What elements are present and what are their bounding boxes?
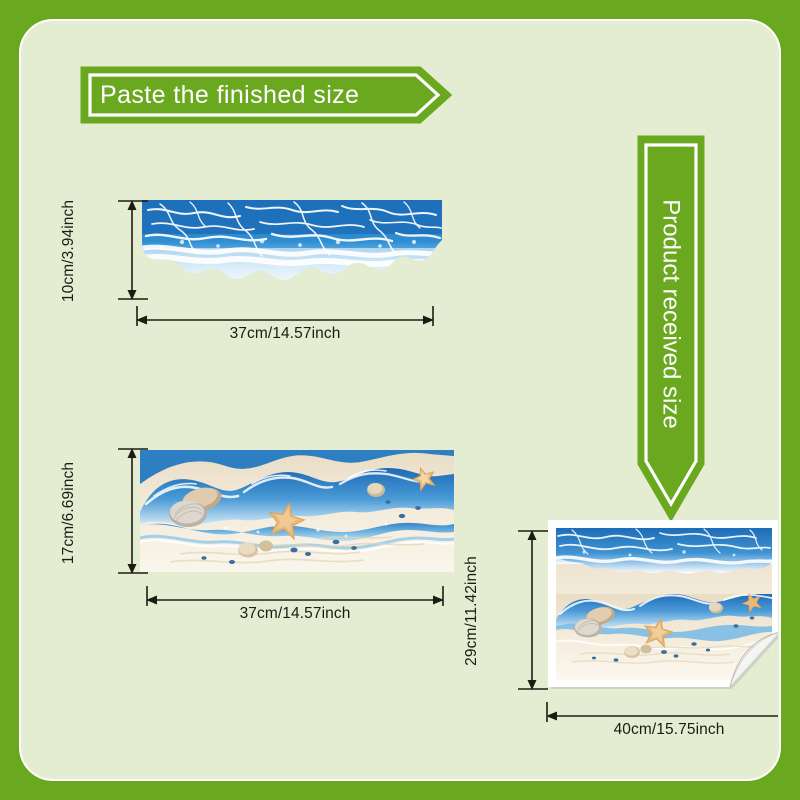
wave-strip-decal: [142, 200, 442, 292]
dimension-label-width-1: 37cm/14.57inch: [134, 325, 436, 343]
dimension-label-width-2: 37cm/14.57inch: [144, 605, 446, 623]
banner-paste-label: Paste the finished size: [100, 66, 400, 124]
banner-product-received-size: Product received size: [636, 134, 706, 522]
content-panel: Paste the finished size Product received…: [22, 22, 778, 778]
dimension-label-height-2: 17cm/6.69inch: [58, 440, 80, 582]
dimension-line-height-3: [510, 528, 550, 692]
dimension-line-height-2: [110, 446, 150, 576]
poster-root: Paste the finished size Product received…: [0, 0, 800, 800]
beach-scene-decal: [140, 450, 454, 572]
dimension-label-width-3: 40cm/15.75inch: [544, 721, 778, 739]
banner-paste-finished-size: Paste the finished size: [80, 66, 452, 124]
dimension-label-height-1: 10cm/3.94inch: [58, 192, 80, 308]
dimension-label-height-3: 29cm/11.42inch: [458, 522, 480, 698]
dimension-line-height-1: [110, 198, 150, 302]
product-sheet: [544, 516, 778, 691]
banner-product-label: Product received size: [636, 134, 706, 494]
